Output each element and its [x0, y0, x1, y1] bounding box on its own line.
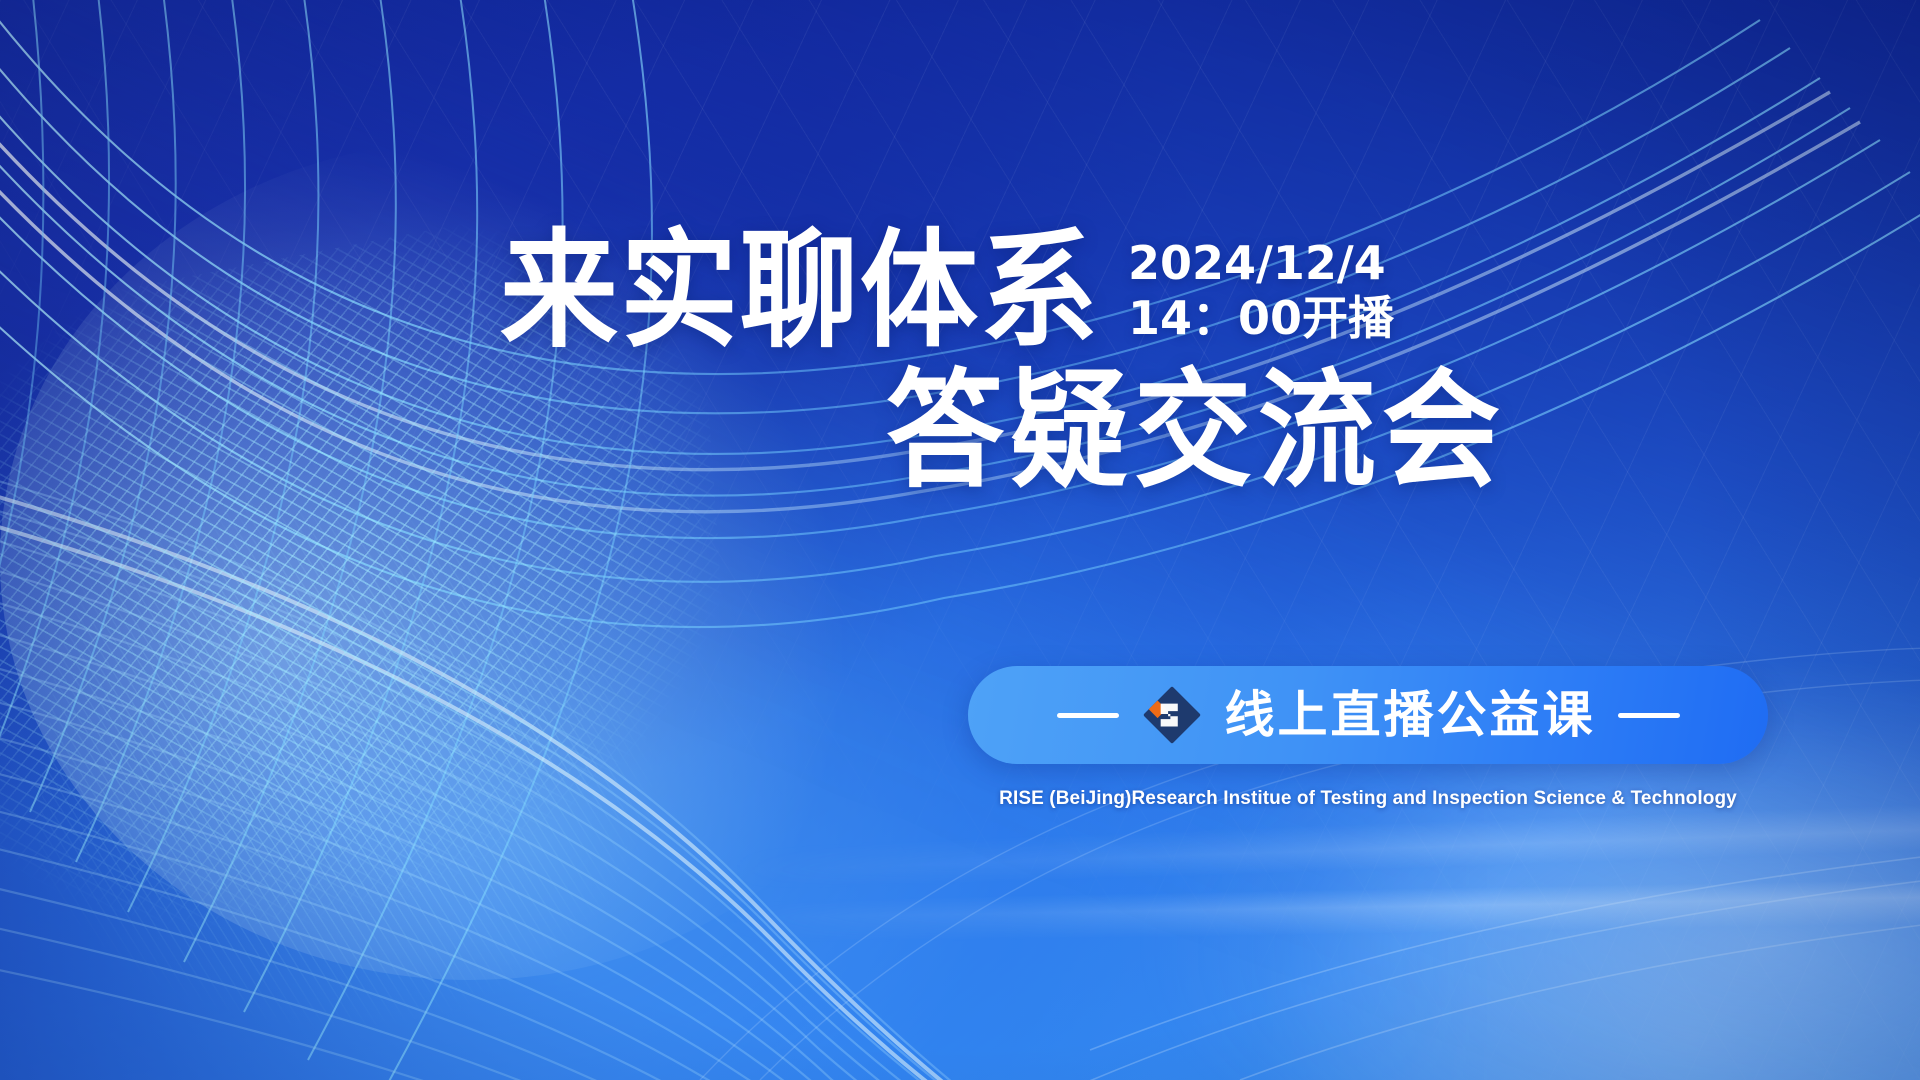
- broadcast-time: 14：00开播: [1128, 294, 1394, 344]
- dash-rule-left-icon: [1057, 713, 1119, 718]
- poster-canvas: 来实聊体系 2024/12/4 14：00开播 答疑交流会 线上直播公益课: [0, 0, 1920, 1080]
- broadcast-date: 2024/12/4: [1128, 239, 1394, 289]
- badge-label: 线上直播公益课: [1225, 690, 1596, 740]
- broadcast-datetime: 2024/12/4 14：00开播: [1128, 239, 1394, 354]
- page-title-line-2: 答疑交流会: [886, 367, 1780, 494]
- live-course-badge: 线上直播公益课: [968, 666, 1768, 764]
- headline-block: 来实聊体系 2024/12/4 14：00开播 答疑交流会: [500, 236, 1780, 494]
- rise-diamond-logo-icon: [1141, 684, 1203, 746]
- dash-rule-right-icon: [1618, 713, 1680, 718]
- organization-name-en: RISE (BeiJing)Research Institue of Testi…: [968, 788, 1768, 810]
- page-title-line-1: 来实聊体系: [500, 227, 1100, 354]
- poster-content: 来实聊体系 2024/12/4 14：00开播 答疑交流会 线上直播公益课: [0, 0, 1920, 1080]
- headline-row: 来实聊体系 2024/12/4 14：00开播: [500, 236, 1780, 354]
